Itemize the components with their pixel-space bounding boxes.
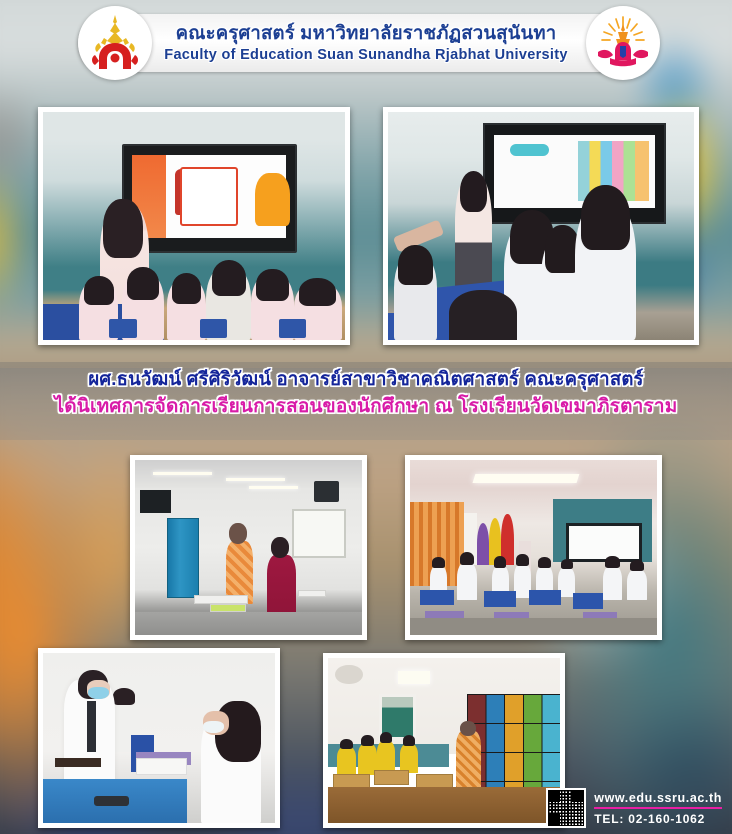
photo-1-image (43, 112, 345, 340)
photo-3 (130, 455, 367, 640)
royal-crest-logo (586, 6, 660, 80)
header-title-thai: คณะครุศาสตร์ มหาวิทยาลัยราชภัฏสวนสุนันทา (164, 24, 567, 43)
photo-5 (38, 648, 280, 828)
photo-6 (323, 653, 565, 828)
header-title-english: Faculty of Education Suan Sunandha Rjabh… (164, 48, 567, 63)
photo-4-image (410, 460, 657, 635)
royal-crest-icon (594, 14, 652, 72)
caption-line-2: ได้นิเทศการจัดการเรียนการสอนของนักศึกษา … (0, 396, 732, 419)
caption-block: ผศ.ธนวัฒน์ ศรีศิริวัฒน์ อาจารย์สาขาวิชาค… (0, 368, 732, 419)
header-title-group: คณะครุศาสตร์ มหาวิทยาลัยราชภัฏสวนสุนันทา… (164, 24, 567, 62)
website-url[interactable]: www.edu.ssru.ac.th (594, 791, 722, 809)
photo-2 (383, 107, 699, 345)
poster-root: คณะครุศาสตร์ มหาวิทยาลัยราชภัฏสวนสุนันทา… (0, 0, 732, 834)
photo-1 (38, 107, 350, 345)
ssru-emblem-logo (78, 6, 152, 80)
photo-4 (405, 455, 662, 640)
footer-contact: www.edu.ssru.ac.th TEL: 02-160-1062 (546, 788, 722, 828)
photo-2-image (388, 112, 694, 340)
photo-6-image (328, 658, 560, 823)
caption-line-1: ผศ.ธนวัฒน์ ศรีศิริวัฒน์ อาจารย์สาขาวิชาค… (0, 368, 732, 390)
telephone-number: TEL: 02-160-1062 (594, 812, 722, 826)
photo-3-image (135, 460, 362, 635)
photo-5-image (43, 653, 275, 823)
footer-text-group: www.edu.ssru.ac.th TEL: 02-160-1062 (594, 791, 722, 826)
header-bar: คณะครุศาสตร์ มหาวิทยาลัยราชภัฏสวนสุนันทา… (78, 14, 654, 72)
qr-code[interactable] (546, 788, 586, 828)
ssru-emblem-icon (87, 13, 143, 73)
